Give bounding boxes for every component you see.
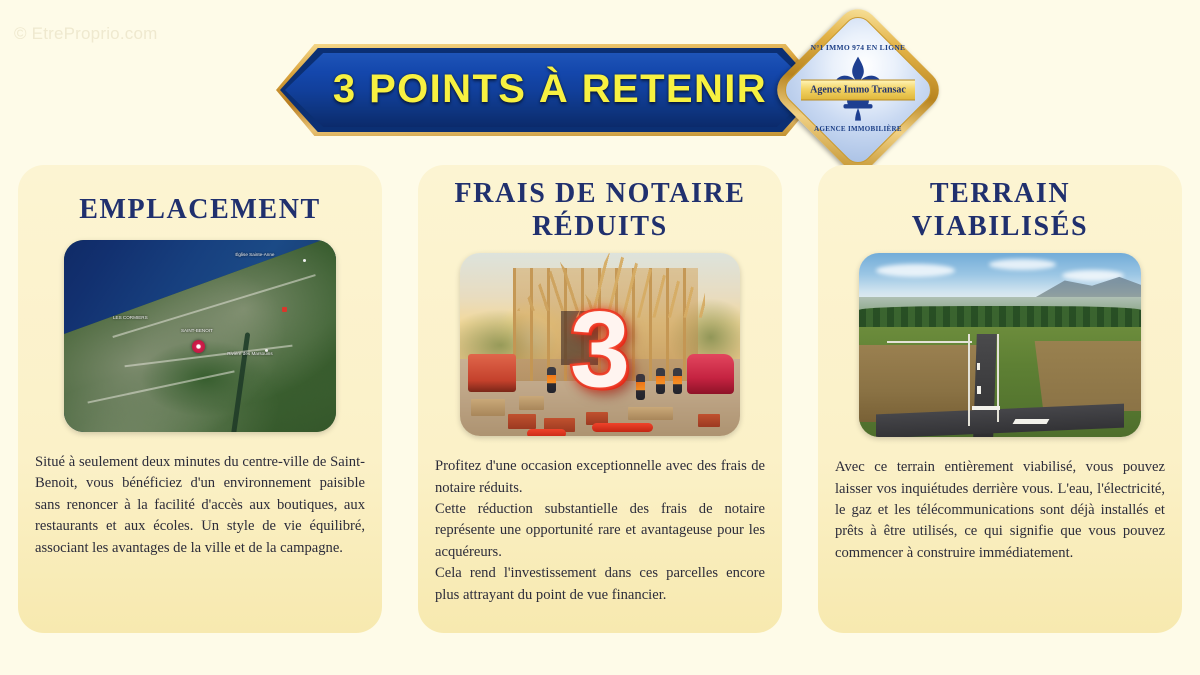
red-pipe-2: [527, 429, 566, 436]
card-body-emplacement: Situé à seulement deux minutes du centre…: [35, 452, 365, 559]
card-title-line-2: VIABILISÉS: [832, 210, 1168, 243]
crosswalk-2: [1013, 419, 1050, 424]
excavator: [468, 354, 516, 392]
worker-1: [547, 367, 556, 393]
image-satellite-map: Église Sainte-Anne SAINT-BENOIT LES CORM…: [64, 240, 336, 432]
worker-4: [673, 368, 682, 394]
worker-2: [636, 374, 645, 400]
map-vegetation: [140, 340, 271, 417]
card-paragraph: Situé à seulement deux minutes du centre…: [35, 452, 365, 559]
watermark: © EtreProprio.com: [14, 24, 157, 44]
card-paragraph: Cela rend l'investissement dans ces parc…: [435, 563, 765, 606]
point-card-emplacement: EMPLACEMENT Église Sainte-Anne SAINT-BEN…: [18, 165, 382, 633]
land-plot-right: [1035, 341, 1141, 411]
banner-body: 3 POINTS À RETENIR: [285, 53, 815, 127]
cloud-2: [989, 259, 1057, 270]
crosswalk-1: [972, 406, 1000, 410]
construction-canvas: 3: [460, 253, 740, 436]
card-title-terrain: TERRAIN VIABILISÉS: [818, 177, 1182, 243]
pallet-1: [471, 399, 505, 415]
card-title-line-1: FRAIS DE NOTAIRE: [432, 177, 768, 210]
card-paragraph: Profitez d'une occasion exceptionnelle a…: [435, 456, 765, 499]
map-canvas: Église Sainte-Anne SAINT-BENOIT LES CORM…: [64, 240, 336, 432]
card-title-frais-notaire: FRAIS DE NOTAIRE RÉDUITS: [418, 177, 782, 243]
point-card-frais-notaire: FRAIS DE NOTAIRE RÉDUITS: [418, 165, 782, 633]
treeline: [859, 306, 1141, 328]
image-construction-site: 3: [460, 253, 740, 436]
agency-logo-badge[interactable]: N°1 IMMO 974 EN LIGNE Agence Immo Transa…: [795, 27, 921, 153]
points-card-row: EMPLACEMENT Église Sainte-Anne SAINT-BEN…: [0, 165, 1200, 645]
card-paragraph: Avec ce terrain entièrement viabilisé, v…: [835, 457, 1165, 564]
overlay-number-three: 3: [570, 295, 630, 403]
card-body-frais-notaire: Profitez d'une occasion exceptionnelle a…: [435, 456, 765, 606]
road-marking-1: [977, 363, 980, 370]
land-canvas: [859, 253, 1141, 437]
road-marking-2: [977, 386, 981, 394]
card-title-emplacement: EMPLACEMENT: [18, 193, 382, 226]
card-paragraph: Cette réduction substantielle des frais …: [435, 499, 765, 563]
image-serviced-land: [859, 253, 1141, 437]
card-body-terrain: Avec ce terrain entièrement viabilisé, v…: [835, 457, 1165, 564]
card-title-line-2: RÉDUITS: [432, 210, 768, 243]
pallet-3: [628, 407, 673, 420]
badge-arc-bottom-text: AGENCE IMMOBILIÈRE: [795, 125, 921, 133]
badge-band-text: Agence Immo Transac: [801, 80, 915, 101]
header-banner: 3 POINTS À RETENIR: [276, 44, 824, 136]
brick-stack-1: [508, 414, 536, 429]
map-location-pin[interactable]: [192, 340, 205, 353]
cloud-1: [876, 264, 955, 277]
pallet-2: [519, 396, 544, 411]
point-card-terrain-viabilise: TERRAIN VIABILISÉS: [818, 165, 1182, 633]
red-pipe-1: [592, 423, 654, 432]
map-poi-marker: [282, 307, 287, 312]
worker-3: [656, 368, 665, 394]
red-car: [687, 354, 735, 394]
badge-arc-top-text: N°1 IMMO 974 EN LIGNE: [795, 43, 921, 52]
brick-stack-4: [698, 414, 720, 427]
card-title-line-1: TERRAIN: [832, 177, 1168, 210]
kerb-plot-edge: [887, 341, 972, 343]
banner-title: 3 POINTS À RETENIR: [333, 67, 767, 114]
kerb-left: [968, 334, 970, 426]
